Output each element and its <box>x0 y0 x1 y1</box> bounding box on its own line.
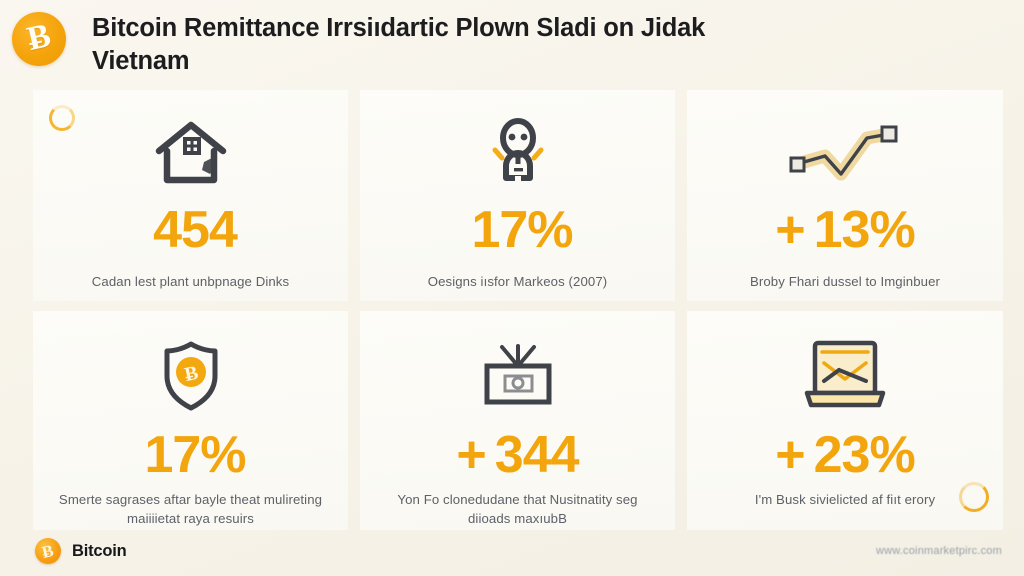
stat-number: 23% <box>814 429 915 481</box>
stat-label: Smerte sagrases aftar bayle theat mulire… <box>33 490 348 528</box>
stat-label: Oesigns iısfor Markeos (2007) <box>412 272 624 291</box>
stat-prefix: + <box>456 429 485 481</box>
stat-label: Yon Fo clonedudane that Nusitnatity seg … <box>360 490 675 528</box>
stat-card-grid: 454 Cadan lest plant unbpnage Dinks <box>33 90 993 530</box>
stat-value: 17% <box>135 429 245 481</box>
stat-value: + 23% <box>775 429 914 481</box>
infographic-page: Ƀ Bitcoin Remittance Irrsiıdartic Plown … <box>0 0 1024 576</box>
stat-value: 17% <box>462 204 572 256</box>
page-header: Ƀ Bitcoin Remittance Irrsiıdartic Plown … <box>0 0 1024 88</box>
bitcoin-coin-icon: Ƀ <box>12 12 66 66</box>
stat-card[interactable]: 454 Cadan lest plant unbpnage Dinks <box>33 90 348 301</box>
stat-label: Cadan lest plant unbpnage Dinks <box>76 272 305 291</box>
stat-prefix: + <box>775 429 804 481</box>
shield-bitcoin-icon: Ƀ <box>33 333 348 419</box>
stat-value: + 13% <box>775 204 914 256</box>
stat-label: Broby Fhari dussel to Imginbuer <box>734 272 956 291</box>
decorative-ring-icon <box>959 482 989 512</box>
footer-website-url[interactable]: www.coinmarketpirc.com <box>876 545 1002 557</box>
stat-number: 17% <box>471 204 572 256</box>
decorative-ring-icon <box>49 105 75 131</box>
bitcoin-symbol: Ƀ <box>24 19 53 57</box>
stat-card[interactable]: + 344 Yon Fo clonedudane that Nusitnatit… <box>360 311 675 530</box>
bitcoin-symbol: Ƀ <box>41 541 56 560</box>
stat-number: 17% <box>144 429 245 481</box>
title-wrapper: Bitcoin Remittance Irrsiıdartic Plown Sl… <box>92 8 732 78</box>
laptop-envelope-icon <box>687 333 1003 419</box>
page-footer: Ƀ Bitcoin www.coinmarketpirc.com <box>0 530 1024 576</box>
stat-card[interactable]: Ƀ 17% Smerte sagrases aftar bayle theat … <box>33 311 348 530</box>
stat-label: I'm Busk sivielicted af fiıt erory <box>739 490 951 509</box>
page-title: Bitcoin Remittance Irrsiıdartic Plown Sl… <box>92 12 732 78</box>
stat-value: + 344 <box>456 429 578 481</box>
house-icon <box>33 112 348 198</box>
money-screen-icon <box>360 333 675 419</box>
bitcoin-coin-icon: Ƀ <box>35 538 61 564</box>
stat-card[interactable]: + 23% I'm Busk sivielicted af fiıt erory <box>687 311 1003 530</box>
growth-line-chart-icon <box>687 112 1003 198</box>
stat-card[interactable]: + 13% Broby Fhari dussel to Imginbuer <box>687 90 1003 301</box>
footer-brand-name: Bitcoin <box>72 542 127 561</box>
stat-card[interactable]: 17% Oesigns iısfor Markeos (2007) <box>360 90 675 301</box>
stat-number: 454 <box>153 204 237 256</box>
stat-number: 13% <box>814 204 915 256</box>
stat-value: 454 <box>144 204 237 256</box>
person-idea-icon <box>360 112 675 198</box>
stat-prefix: + <box>775 204 804 256</box>
stat-number: 344 <box>495 429 579 481</box>
